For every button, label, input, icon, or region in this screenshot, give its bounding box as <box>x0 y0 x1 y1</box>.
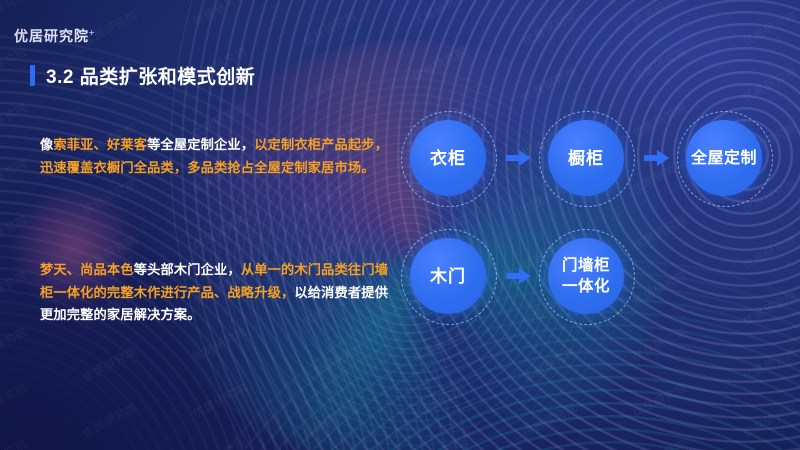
flow-node-line-1: 门墙柜 <box>562 257 610 274</box>
flow-arrow-1-icon <box>506 147 532 169</box>
flow-node-kitchen-cabinet[interactable]: 橱柜 <box>548 120 624 196</box>
flow-node-line-2: 一体化 <box>562 278 610 295</box>
flow-arrow-3-icon <box>506 265 532 287</box>
flow-arrow-2-icon <box>644 147 670 169</box>
paragraph-customization-run-0: 像 <box>40 137 53 152</box>
page-title: 3.2 品类扩张和模式创新 <box>30 62 255 89</box>
title-text: 3.2 品类扩张和模式创新 <box>46 62 255 89</box>
flow-node-wooden-door[interactable]: 木门 <box>410 238 486 314</box>
flow-node-door-wall-cabinet-integration[interactable]: 门墙柜 一体化 <box>548 238 624 314</box>
paragraph-wooden-door-run-0: 梦天、尚品本色 <box>40 262 134 277</box>
paragraph-customization-run-2: 等全屋定制企业， <box>147 137 254 152</box>
flow-node-whole-house-customization[interactable]: 全屋定制 <box>686 120 762 196</box>
flow-node-wardrobe[interactable]: 衣柜 <box>410 120 486 196</box>
flow-node-whole-house-customization-label: 全屋定制 <box>691 148 757 169</box>
flow-node-door-wall-cabinet-integration-label: 门墙柜 一体化 <box>562 255 610 297</box>
flow-node-wooden-door-label: 木门 <box>430 266 466 287</box>
brand-logo-text: 优居研究院 <box>14 28 89 44</box>
flow-node-wardrobe-label: 衣柜 <box>430 148 466 169</box>
title-number: 3.2 <box>46 67 74 88</box>
title-label: 品类扩张和模式创新 <box>80 67 256 88</box>
brand-logo-mark: + <box>89 27 95 37</box>
brand-logo: 优居研究院+ <box>14 26 95 46</box>
title-accent-bar <box>30 65 35 86</box>
slide-canvas: 优居研究院优居研究院优居研究院优居研究院优居研究院优居研究院优居研究院优居研究院… <box>0 0 800 450</box>
paragraph-wooden-door: 梦天、尚品本色等头部木门企业，从单一的木门品类往门墙柜一体化的完整木作进行产品、… <box>40 259 400 327</box>
paragraph-customization: 像索菲亚、好莱客等全屋定制企业，以定制衣柜产品起步，迅速覆盖衣橱门全品类，多品类… <box>40 134 400 179</box>
paragraph-wooden-door-run-1: 等头部木门企业， <box>134 262 241 277</box>
flow-node-kitchen-cabinet-label: 橱柜 <box>568 148 604 169</box>
paragraph-customization-run-1: 索菲亚、好莱客 <box>53 137 147 152</box>
